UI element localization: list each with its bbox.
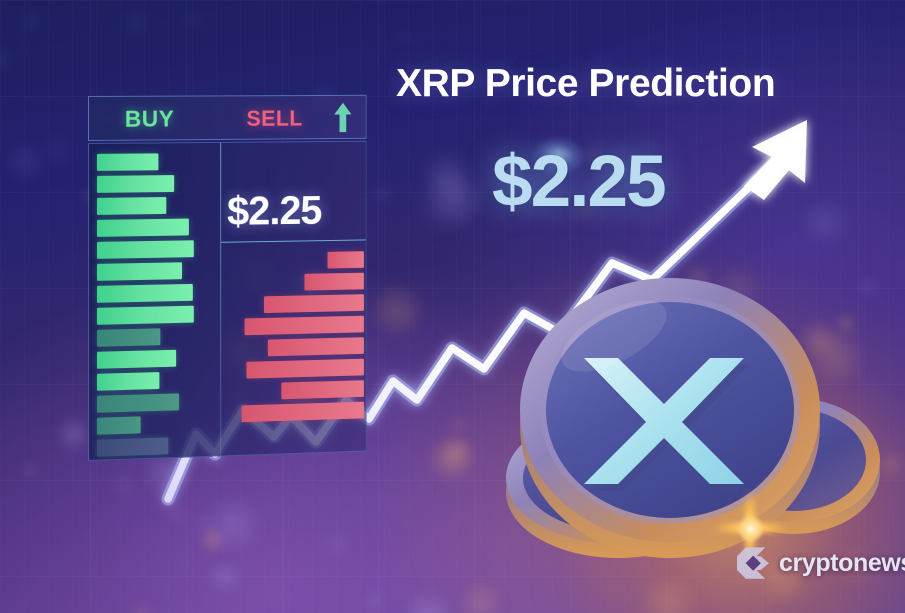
buy-depth-bar <box>97 372 159 391</box>
buy-depth-bar <box>97 197 166 215</box>
buy-depth-bar <box>97 240 194 259</box>
panel-vertical-divider <box>220 143 221 456</box>
panel-horizontal-divider <box>221 239 367 242</box>
buy-depth-bar <box>97 328 160 346</box>
trading-panel-header: BUY SELL <box>88 95 367 141</box>
xrp-coin-stack <box>500 270 900 560</box>
buy-depth-bar <box>97 350 176 369</box>
buy-depth-bar <box>97 306 194 325</box>
sell-depth-bar <box>264 294 364 313</box>
sell-depth-bar <box>281 380 364 399</box>
buy-depth-bar <box>97 393 179 412</box>
sell-depth-bar <box>246 359 363 379</box>
light-burst-core <box>738 516 764 542</box>
arrow-up-icon <box>333 102 352 133</box>
buy-depth-bar <box>97 262 182 281</box>
sell-depth-bars <box>89 142 366 144</box>
buy-depth-bar <box>97 175 174 193</box>
panel-price-value: $2.25 <box>227 187 367 235</box>
sell-depth-bar <box>328 251 364 268</box>
buy-depth-bar <box>97 153 158 171</box>
buy-depth-bar <box>97 416 141 434</box>
buy-depth-bars <box>89 142 366 144</box>
trading-panel[interactable]: BUY SELL $2.25 <box>88 95 367 461</box>
banner-canvas: BUY SELL $2.25 XRP Price Prediction $2.2… <box>0 0 905 613</box>
coin-front <box>520 278 820 558</box>
trading-panel-body: $2.25 <box>88 141 367 461</box>
sell-depth-bar <box>242 402 364 422</box>
sell-depth-bar <box>268 337 364 356</box>
buy-depth-bar <box>97 284 193 303</box>
brand-name: cryptonews <box>779 549 905 578</box>
sell-depth-bar <box>305 273 364 291</box>
page-title: XRP Price Prediction <box>396 62 866 106</box>
brand-logo[interactable]: cryptonews <box>736 546 905 580</box>
cryptonews-hex-logo-icon <box>736 546 770 580</box>
sell-depth-bar <box>245 316 364 336</box>
headline-price: $2.25 <box>492 140 665 223</box>
buy-depth-bar <box>97 219 189 237</box>
sell-label: SELL <box>246 106 302 132</box>
buy-label: BUY <box>125 106 174 133</box>
buy-depth-bar <box>97 437 168 456</box>
